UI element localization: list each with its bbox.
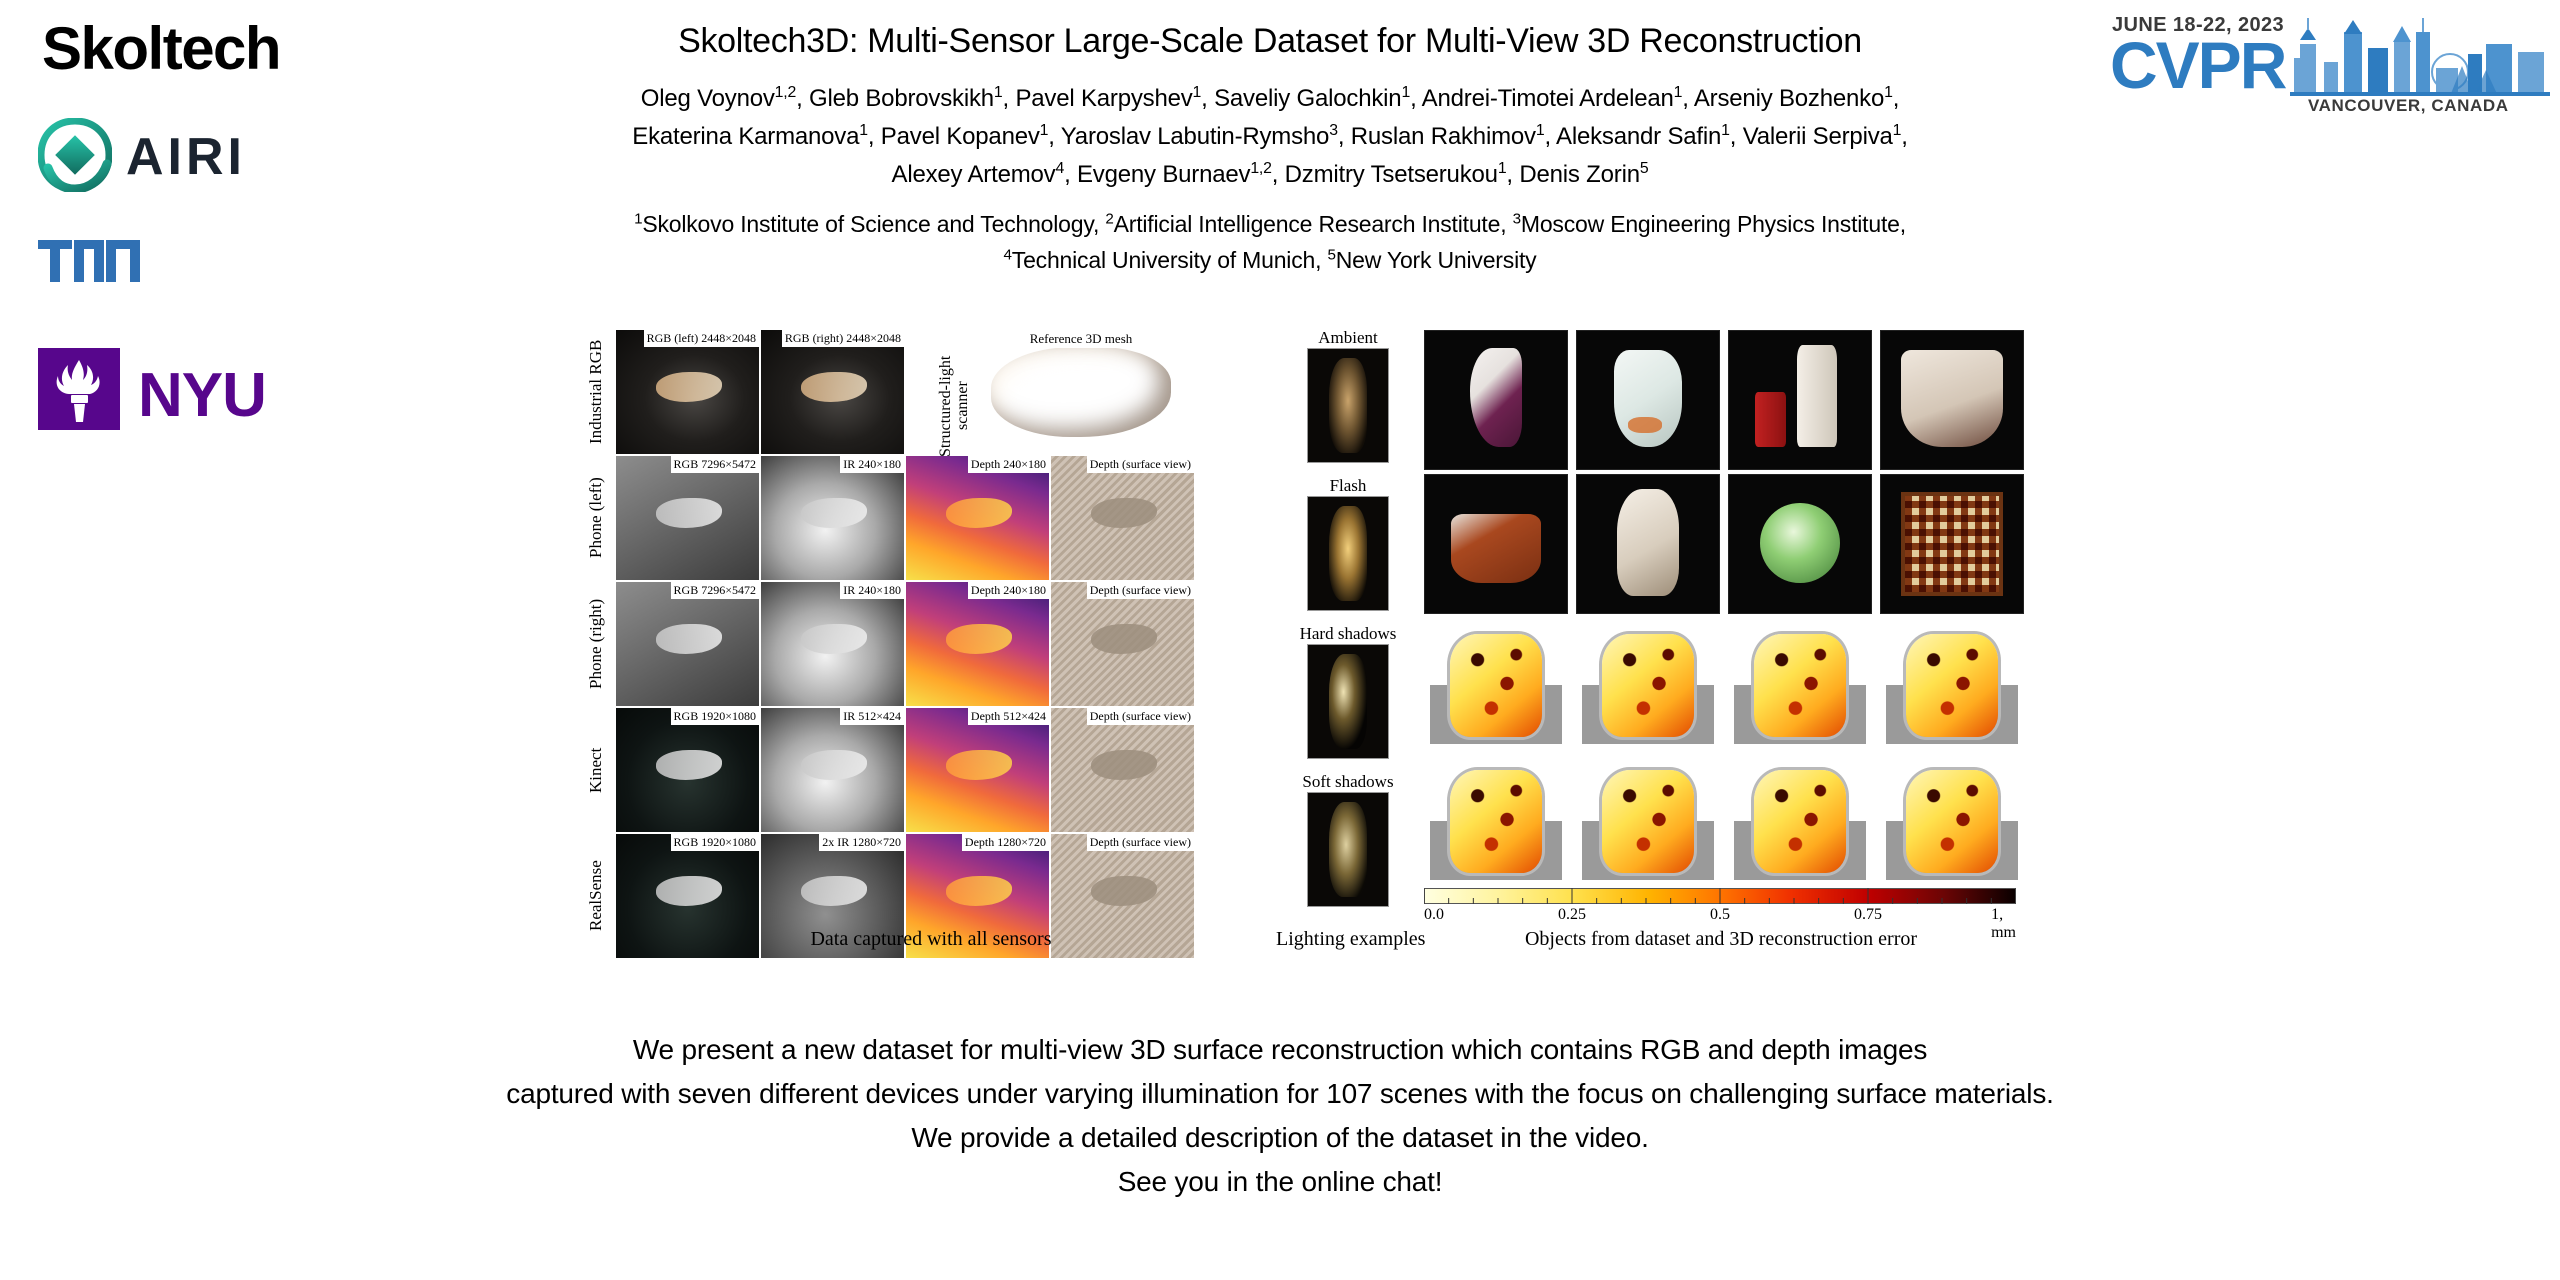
object-photo-figurine: [1576, 474, 1720, 614]
airi-logo: AIRI: [38, 118, 358, 196]
object-error-map-tulip-vase: [1880, 624, 2024, 752]
sensor-row-label-1: Phone (left): [586, 456, 612, 580]
object-photo-pitcher: [1576, 330, 1720, 470]
sensor-cell-tag: IR 240×180: [840, 456, 904, 473]
skoltech-logo-text: Skoltech: [42, 14, 280, 83]
nyu-logo-box: [38, 348, 120, 430]
sensor-cell-tag: Depth (surface view): [1087, 708, 1194, 725]
summary-line-2: We provide a detailed description of the…: [0, 1124, 2560, 1152]
sensor-cell-tag: 2x IR 1280×720: [819, 834, 904, 851]
sensor-cell-subject: [801, 624, 867, 654]
logo-bar: Skoltech AIRI: [0, 0, 470, 420]
lighting-image-0: [1307, 348, 1389, 463]
sensor-cell-subject: [801, 876, 867, 906]
sensor-row-label-3: Kinect: [586, 708, 612, 832]
airi-logo-text: AIRI: [126, 127, 246, 187]
lighting-spacer: [1298, 759, 1398, 772]
sensor-cell-r3-c3: Depth (surface view): [1051, 708, 1194, 832]
author-line-0: Oleg Voynov1,2, Gleb Bobrovskikh1, Pavel…: [470, 85, 2070, 113]
cvpr-wordmark: CVPR: [2110, 34, 2285, 97]
object-photo-spiky-ball: [1728, 474, 1872, 614]
sensor-cell-subject: [801, 372, 867, 402]
cvpr-logo: JUNE 18-22, 2023 CVPR VANCOUVER, CANADA: [2090, 8, 2550, 118]
error-map-surface: [1754, 770, 1846, 872]
sensor-cell-tag: Depth 240×180: [968, 456, 1049, 473]
lighting-image-1: [1307, 496, 1389, 611]
colorbar-tick-labels: 0.00.250.50.751, mm: [1416, 906, 2024, 926]
affiliation-line-1: 4Technical University of Munich, 5New Yo…: [470, 247, 2070, 274]
author-list: Oleg Voynov1,2, Gleb Bobrovskikh1, Pavel…: [470, 85, 2070, 189]
object-photo-candles: [1728, 330, 1872, 470]
sensor-cell-subject: [946, 498, 1012, 528]
sensor-cell-subject: [946, 750, 1012, 780]
author-line-2: Alexey Artemov4, Evgeny Burnaev1,2, Dzmi…: [470, 161, 2070, 189]
sensor-cell-subject: [656, 876, 722, 906]
object-photo-tulip-vase: [1880, 330, 2024, 470]
object-photo-backgammon-board: [1880, 474, 2024, 614]
structured-light-scanner-label: Structured-light scanner: [938, 346, 964, 466]
lighting-label-1: Flash: [1298, 476, 1398, 496]
sensor-cell-r1-c0: RGB 7296×5472: [616, 456, 759, 580]
error-map-surface: [1602, 770, 1694, 872]
error-map-surface: [1754, 634, 1846, 736]
sensor-cell-subject: [801, 498, 867, 528]
object-error-map-sugar-bowl: [1424, 760, 1568, 888]
object-error-map-spiky-ball: [1728, 760, 1872, 888]
object-photo-iron: [1424, 330, 1568, 470]
error-map-surface: [1450, 770, 1542, 872]
object-error-map-figurine: [1576, 760, 1720, 888]
caption-sensors: Data captured with all sensors: [586, 928, 1276, 951]
sensor-cell-subject: [656, 372, 722, 402]
colorbar-ticks: [1424, 888, 2016, 904]
sensor-cell-subject: [1091, 624, 1157, 654]
error-map-surface: [1602, 634, 1694, 736]
affiliation-list: 1Skolkovo Institute of Science and Techn…: [470, 211, 2070, 274]
summary-line-1: captured with seven different devices un…: [0, 1080, 2560, 1108]
object-error-map-candles: [1728, 624, 1872, 752]
sensor-cell-subject: [656, 624, 722, 654]
summary-text: We present a new dataset for multi-view …: [0, 1020, 2560, 1196]
summary-line-0: We present a new dataset for multi-view …: [0, 1036, 2560, 1064]
affiliation-line-0: 1Skolkovo Institute of Science and Techn…: [470, 211, 2070, 238]
sensor-cell-tag: RGB 1920×1080: [671, 708, 759, 725]
sensor-cell-r3-c1: IR 512×424: [761, 708, 904, 832]
lighting-subject: [1329, 802, 1367, 897]
sensor-cell-r2-c2: Depth 240×180: [906, 582, 1049, 706]
reference-mesh-cell: Reference 3D mesh: [968, 330, 1194, 454]
lighting-spacer: [1298, 611, 1398, 624]
sensor-cell-r3-c0: RGB 1920×1080: [616, 708, 759, 832]
nyu-logo-text: NYU: [138, 360, 266, 431]
lighting-label-0: Ambient: [1298, 328, 1398, 348]
lighting-subject: [1329, 358, 1367, 453]
sensor-cell-subject: [801, 750, 867, 780]
nyu-logo: NYU: [38, 348, 368, 436]
sensor-cell-r3-c2: Depth 512×424: [906, 708, 1049, 832]
cvpr-city: VANCOUVER, CANADA: [2308, 96, 2509, 116]
sensor-cell-subject: [656, 498, 722, 528]
sensor-cell-tag: IR 512×424: [840, 708, 904, 725]
sensor-cell-r0-c1: RGB (right) 2448×2048: [761, 330, 904, 454]
torch-icon: [38, 348, 120, 430]
colorbar-tick-3: 0.75: [1854, 906, 1882, 924]
sensor-cell-tag: Depth 240×180: [968, 582, 1049, 599]
paper-header: Skoltech3D: Multi-Sensor Large-Scale Dat…: [470, 0, 2070, 274]
author-line-1: Ekaterina Karmanova1, Pavel Kopanev1, Ya…: [470, 123, 2070, 151]
sensor-cell-r2-c1: IR 240×180: [761, 582, 904, 706]
object-photo-sugar-bowl: [1424, 474, 1568, 614]
sensor-cell-tag: Depth 512×424: [968, 708, 1049, 725]
summary-line-3: See you in the online chat!: [0, 1168, 2560, 1196]
lighting-spacer: [1298, 907, 1398, 920]
sensor-cell-subject: [1091, 750, 1157, 780]
lighting-label-2: Hard shadows: [1298, 624, 1398, 644]
sensor-grid: Industrial RGBRGB (left) 2448×2048RGB (r…: [586, 328, 1276, 968]
colorbar-tick-1: 0.25: [1558, 906, 1586, 924]
sensor-cell-tag: Depth 1280×720: [962, 834, 1049, 851]
sensor-cell-tag: RGB 7296×5472: [671, 582, 759, 599]
teaser-figure: Industrial RGBRGB (left) 2448×2048RGB (r…: [586, 328, 2026, 968]
sensor-cell-r1-c1: IR 240×180: [761, 456, 904, 580]
vancouver-skyline-icon: [2290, 14, 2550, 100]
sensor-cell-subject: [1091, 498, 1157, 528]
sensor-row-label-0: Industrial RGB: [586, 330, 612, 454]
object-error-map-pitcher: [1576, 624, 1720, 752]
lighting-image-3: [1307, 792, 1389, 907]
sensor-cell-tag: Depth (surface view): [1087, 456, 1194, 473]
lighting-label-3: Soft shadows: [1298, 772, 1398, 792]
object-error-map-backgammon-board: [1880, 760, 2024, 888]
caption-lighting: Lighting examples: [1276, 928, 1416, 951]
sensor-cell-r0-c0: RGB (left) 2448×2048: [616, 330, 759, 454]
lighting-image-2: [1307, 644, 1389, 759]
sensor-cell-subject: [946, 876, 1012, 906]
sensor-cell-r1-c2: Depth 240×180: [906, 456, 1049, 580]
sensor-cell-subject: [946, 624, 1012, 654]
caption-objects: Objects from dataset and 3D reconstructi…: [1416, 928, 2026, 951]
lighting-spacer: [1298, 463, 1398, 476]
sensor-cell-tag: RGB (right) 2448×2048: [782, 330, 904, 347]
sensor-cell-tag: RGB 1920×1080: [671, 834, 759, 851]
sensor-cell-tag: Depth (surface view): [1087, 582, 1194, 599]
object-error-map-iron: [1424, 624, 1568, 752]
lighting-subject: [1329, 654, 1367, 749]
sensor-cell-tag: RGB 7296×5472: [671, 456, 759, 473]
error-map-surface: [1906, 634, 1998, 736]
tum-logo: [38, 240, 140, 282]
sensor-row-label-2: Phone (right): [586, 582, 612, 706]
colorbar-tick-0: 0.0: [1424, 906, 1444, 924]
colorbar-tick-2: 0.5: [1710, 906, 1730, 924]
objects-and-error-grid: 0.00.250.50.751, mm: [1416, 328, 2026, 968]
lighting-subject: [1329, 506, 1367, 601]
reference-mesh-tag: Reference 3D mesh: [1027, 330, 1136, 348]
lighting-examples-column: AmbientFlashHard shadowsSoft shadows: [1298, 328, 1398, 968]
page-title: Skoltech3D: Multi-Sensor Large-Scale Dat…: [470, 22, 2070, 61]
sensor-cell-subject: [1091, 876, 1157, 906]
sensor-cell-tag: RGB (left) 2448×2048: [644, 330, 759, 347]
reference-mesh-render: [991, 347, 1172, 436]
error-map-surface: [1906, 770, 1998, 872]
sensor-cell-tag: IR 240×180: [840, 582, 904, 599]
sensor-cell-r2-c0: RGB 7296×5472: [616, 582, 759, 706]
sensor-cell-r1-c3: Depth (surface view): [1051, 456, 1194, 580]
airi-diamond-icon: [38, 118, 112, 192]
error-map-surface: [1450, 634, 1542, 736]
sensor-cell-subject: [656, 750, 722, 780]
sensor-cell-tag: Depth (surface view): [1087, 834, 1194, 851]
sensor-cell-r2-c3: Depth (surface view): [1051, 582, 1194, 706]
